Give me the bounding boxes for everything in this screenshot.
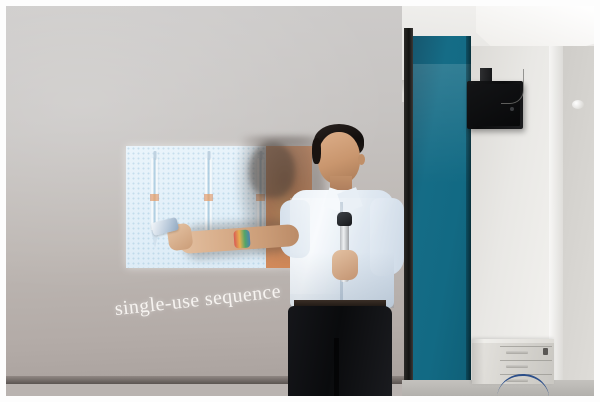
presenter — [274, 124, 409, 396]
presenter-ear — [358, 154, 365, 165]
microphone-head — [337, 212, 352, 226]
speaker-cable — [501, 69, 524, 104]
cabinet-top — [472, 339, 554, 343]
presenter-hand-microphone — [332, 250, 358, 280]
slide-vial-2 — [204, 158, 213, 232]
presenter-wristband — [233, 229, 250, 248]
presenter-hair-side — [312, 138, 321, 164]
cabinet-drawer — [500, 360, 552, 373]
teal-panel-gloss — [413, 64, 471, 184]
far-wall — [563, 46, 594, 384]
presenter-trouser-seam — [334, 338, 339, 396]
photo-frame: single-use sequence — [0, 0, 600, 402]
wall-fixture — [572, 100, 584, 109]
cabinet-lock — [543, 348, 548, 355]
cabinet-side-shading — [472, 339, 484, 384]
presenter-trousers — [288, 306, 392, 396]
teal-wall-panel — [413, 36, 471, 384]
wall-corner — [549, 46, 563, 384]
speaker-indicator — [510, 107, 514, 111]
photograph: single-use sequence — [6, 6, 594, 396]
